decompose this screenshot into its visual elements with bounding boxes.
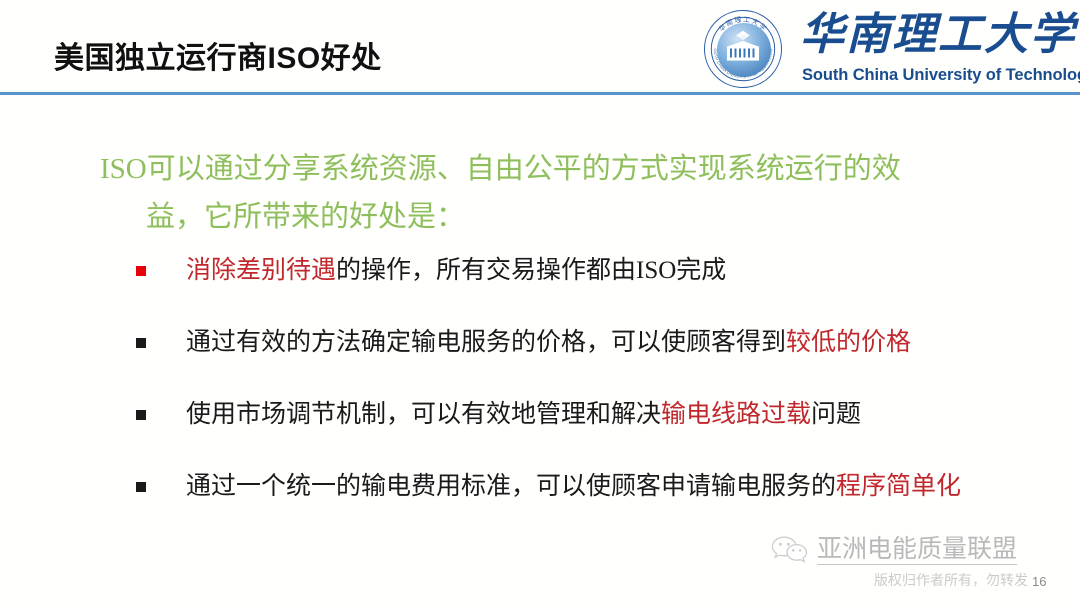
plain-text: 的操作，所有交易操作都由ISO完成 [336,257,726,284]
svg-text:华南理工大学: 华南理工大学 [800,10,1079,59]
list-item-text: 消除差别待遇的操作，所有交易操作都由ISO完成 [186,257,726,284]
bullet-marker-square [136,266,146,276]
list-item-text: 通过一个统一的输电费用标准，可以使顾客申请输电服务的程序简单化 [186,473,961,500]
header-divider [0,92,1080,95]
lead-line-1: ISO可以通过分享系统资源、自由公平的方式实现系统运行的效 [100,153,901,185]
watermark-label: 亚洲电能质量联盟 [817,534,1017,565]
emphasis-text: 消除差别待遇 [186,257,336,284]
slide: 美国独立运行商ISO好处 SOUTH CHINA UNIVERSITY OF T… [0,0,1080,608]
bullet-marker-square [136,410,146,420]
lead-line-2: 益，它所带来的好处是： [100,193,990,241]
wechat-icon [770,535,810,565]
plain-text: 问题 [811,401,861,428]
list-item: 使用市场调节机制，可以有效地管理和解决输电线路过载问题 [136,390,996,440]
university-name-cn: 华南理工大学 [797,8,1079,62]
university-logo: SOUTH CHINA UNIVERSITY OF TECHNOLOGY 华南理… [700,6,1080,92]
plain-text: 通过一个统一的输电费用标准，可以使顾客申请输电服务的 [186,473,836,500]
university-name-en: South China University of Technology [802,66,1080,85]
emphasis-text: 程序简单化 [836,473,961,500]
plain-text: 通过有效的方法确定输电服务的价格，可以使顾客得到 [186,329,786,356]
seal-building-icon [726,41,760,61]
bullet-marker-square [136,338,146,348]
list-item: 通过有效的方法确定输电服务的价格，可以使顾客得到较低的价格 [136,318,996,368]
list-item-text: 使用市场调节机制，可以有效地管理和解决输电线路过载问题 [186,401,861,428]
university-seal-icon: SOUTH CHINA UNIVERSITY OF TECHNOLOGY 华南理… [704,10,782,88]
bullet-marker-square [136,482,146,492]
watermark: 亚洲电能质量联盟 版权归作者所有，勿转发 [770,534,1070,606]
bullet-list: 消除差别待遇的操作，所有交易操作都由ISO完成 通过有效的方法确定输电服务的价格… [136,246,996,534]
list-item: 通过一个统一的输电费用标准，可以使顾客申请输电服务的程序简单化 [136,462,996,512]
emphasis-text: 输电线路过载 [661,401,811,428]
watermark-row: 亚洲电能质量联盟 [770,534,1017,565]
slide-header: 美国独立运行商ISO好处 SOUTH CHINA UNIVERSITY OF T… [0,0,1080,95]
page-title: 美国独立运行商ISO好处 [54,33,382,77]
list-item: 消除差别待遇的操作，所有交易操作都由ISO完成 [136,246,996,296]
emphasis-text: 较低的价格 [786,329,911,356]
copyright-note: 版权归作者所有，勿转发 [874,570,1028,590]
page-number: 16 [1032,574,1046,589]
lead-paragraph: ISO可以通过分享系统资源、自由公平的方式实现系统运行的效 益，它所带来的好处是… [100,145,990,241]
plain-text: 使用市场调节机制，可以有效地管理和解决 [186,401,661,428]
seal-crest-icon [733,30,753,41]
list-item-text: 通过有效的方法确定输电服务的价格，可以使顾客得到较低的价格 [186,329,911,356]
